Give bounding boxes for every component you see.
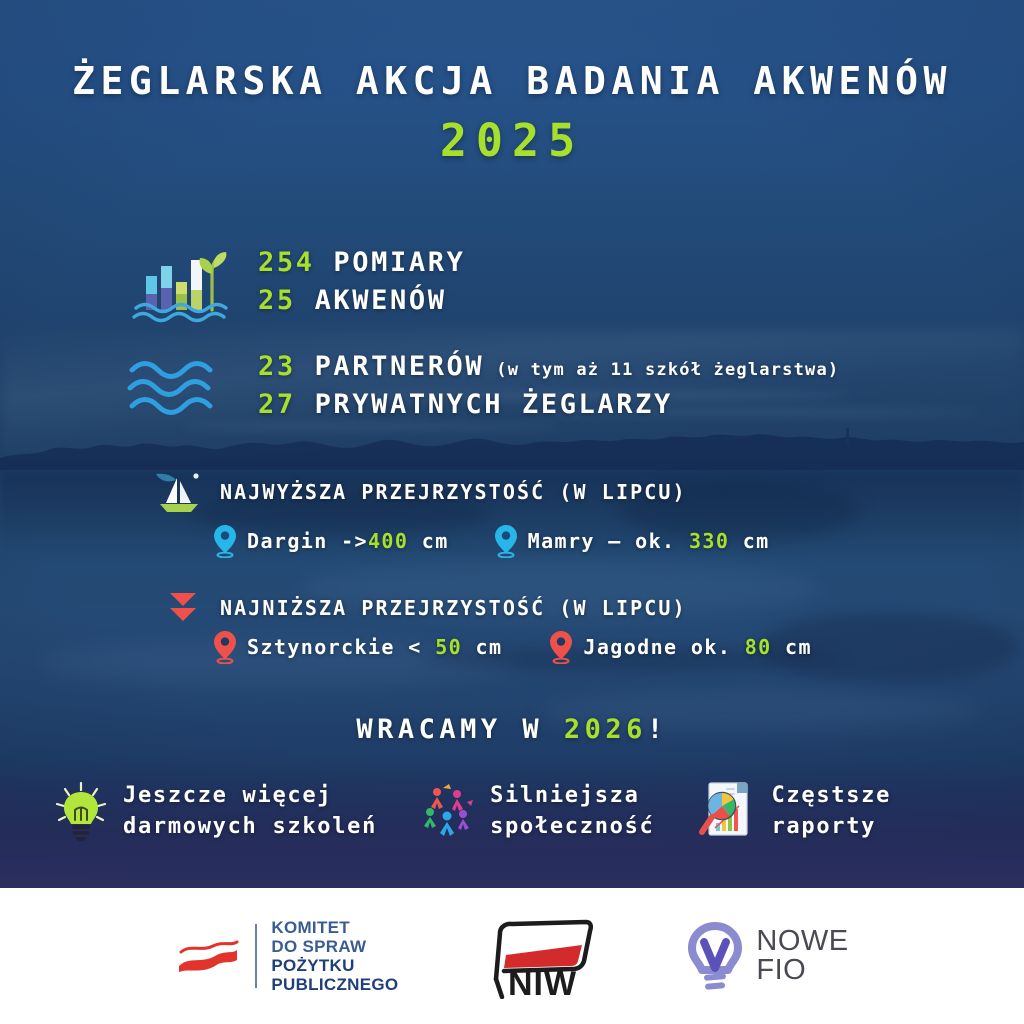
comeback-pre: WRACAMY W <box>356 714 564 745</box>
nowefio-line1: NOWE <box>756 927 848 956</box>
stat-label-partnerow: PARTNERÓW <box>296 351 485 382</box>
title-block: ŻEGLARSKA AKCJA BADANIA AKWENÓW 2025 <box>0 62 1024 167</box>
kdsp-line1: KOMITET <box>271 918 398 937</box>
map-pin-icon <box>212 524 238 558</box>
report-magnifier-svg <box>696 778 758 844</box>
page-title: ŻEGLARSKA AKCJA BADANIA AKWENÓW <box>0 62 1024 102</box>
waves-svg <box>126 352 236 420</box>
stat-number-254: 254 <box>258 247 315 278</box>
map-pin-icon <box>212 630 238 664</box>
value-jagodne-label: Jagodne ok. 80 cm <box>583 635 812 659</box>
mamry-unit: cm <box>729 529 769 553</box>
stat-paren-post: szkół żeglarstwa) <box>634 360 840 380</box>
stat-label-pomiary: POMIARY <box>315 247 466 278</box>
polish-flag-mark-icon <box>175 936 241 976</box>
stat-paren-pre: (w tym aż <box>496 360 610 380</box>
dargin-value: 400 <box>368 529 408 553</box>
stat-measurements: 254 POMIARY 25 AKWENÓW <box>132 238 465 326</box>
stat-partners: 23 PARTNERÓW(w tym aż 11 szkół żeglarstw… <box>126 348 839 425</box>
stat-partners-text: 23 PARTNERÓW(w tym aż 11 szkół żeglarstw… <box>258 348 839 425</box>
feature-reports-label: Częstsze raporty <box>771 780 891 842</box>
niw-text: NIW <box>508 965 577 999</box>
nowefio-text-block: NOWE FIO <box>756 927 848 985</box>
lightbulb-svg <box>52 780 110 842</box>
waves-icon <box>126 352 236 420</box>
highest-transparency-header: NAJWYŻSZA PRZEJRZYSTOŚĆ (W LIPCU) <box>152 470 687 514</box>
value-jagodne: Jagodne ok. 80 cm <box>548 630 812 664</box>
infographic-poster: ŻEGLARSKA AKCJA BADANIA AKWENÓW 2025 <box>0 0 1024 1024</box>
bar-chart-sprout-water-icon <box>132 238 236 326</box>
map-pin-icon <box>493 524 519 558</box>
jagodne-unit: cm <box>772 635 812 659</box>
value-mamry-label: Mamry – ok. 330 cm <box>528 529 770 553</box>
feature-community: Silniejsza społeczność <box>419 778 654 844</box>
value-sztynorckie-label: Sztynorckie < 50 cm <box>247 635 502 659</box>
stat-line-waterbodies: 25 AKWENÓW <box>258 282 465 320</box>
report-magnifier-icon <box>696 778 758 844</box>
highest-transparency-values: Dargin ->400 cm Mamry – ok. 330 cm <box>212 524 770 558</box>
sztynorckie-name: Sztynorckie < <box>247 635 435 659</box>
lowest-transparency-header: NAJNIŻSZA PRZEJRZYSTOŚĆ (W LIPCU) <box>164 588 687 628</box>
feature-community-line2: społeczność <box>490 811 654 842</box>
feature-reports-line1: Częstsze <box>771 780 891 811</box>
sztynorckie-unit: cm <box>462 635 502 659</box>
feature-reports: Częstsze raporty <box>696 778 891 844</box>
mamry-name: Mamry – ok. <box>528 529 689 553</box>
nowefio-line2: FIO <box>756 956 848 985</box>
nowe-fio-logo: NOWE FIO <box>684 920 848 992</box>
lowest-transparency-label: NAJNIŻSZA PRZEJRZYSTOŚĆ (W LIPCU) <box>220 596 687 620</box>
sailboat-icon <box>152 470 206 514</box>
polish-flag-banner-icon: NIW <box>482 913 600 999</box>
stat-line-private-sailors: 27 PRYWATNYCH ŻEGLARZY <box>258 386 839 424</box>
mamry-value: 330 <box>689 529 729 553</box>
sztynorckie-value: 50 <box>435 635 462 659</box>
stat-measurements-text: 254 POMIARY 25 AKWENÓW <box>258 244 465 321</box>
value-mamry: Mamry – ok. 330 cm <box>493 524 770 558</box>
feature-trainings: Jeszcze więcej darmowych szkoleń <box>52 778 377 844</box>
comeback-post: ! <box>647 714 668 745</box>
feature-trainings-label: Jeszcze więcej darmowych szkoleń <box>123 780 377 842</box>
value-dargin: Dargin ->400 cm <box>212 524 449 558</box>
feature-community-line1: Silniejsza <box>490 780 654 811</box>
feature-reports-line2: raporty <box>771 811 891 842</box>
map-pin-icon <box>548 630 574 664</box>
dargin-name: Dargin -> <box>247 529 368 553</box>
double-down-arrow-icon <box>164 588 206 628</box>
lightbulb-icon <box>52 780 110 842</box>
comeback-year: 2026 <box>564 714 647 745</box>
footer-logos: KOMITET DO SPRAW POŻYTKU PUBLICZNEGO NIW <box>0 888 1024 1024</box>
kdsp-text-block: KOMITET DO SPRAW POŻYTKU PUBLICZNEGO <box>271 918 398 994</box>
sailboat-svg <box>152 470 206 514</box>
kdsp-line3: POŻYTKU <box>271 956 398 975</box>
stat-label-prywatnych-zeglarzy: PRYWATNYCH ŻEGLARZY <box>296 389 673 420</box>
lightbulb-purple-icon <box>684 920 746 992</box>
content-layer: ŻEGLARSKA AKCJA BADANIA AKWENÓW 2025 <box>0 0 1024 1024</box>
stat-line-partners: 23 PARTNERÓW(w tym aż 11 szkół żeglarstw… <box>258 348 839 386</box>
value-sztynorckie: Sztynorckie < 50 cm <box>212 630 502 664</box>
stat-paren-number-11: 11 <box>611 360 634 380</box>
kdsp-line4: PUBLICZNEGO <box>271 975 398 994</box>
lowest-transparency-values: Sztynorckie < 50 cm Jagodne ok. 80 cm <box>212 630 812 664</box>
people-community-icon <box>419 780 477 842</box>
kdsp-line2: DO SPRAW <box>271 937 398 956</box>
dargin-unit: cm <box>408 529 448 553</box>
logo-divider <box>255 924 257 988</box>
stat-line-measurements: 254 POMIARY <box>258 244 465 282</box>
features-row: Jeszcze więcej darmowych szkoleń <box>0 778 1024 844</box>
feature-community-label: Silniejsza społeczność <box>490 780 654 842</box>
comeback-message: WRACAMY W 2026! <box>0 714 1024 745</box>
double-down-arrow-svg <box>164 588 206 628</box>
people-community-svg <box>419 780 477 842</box>
title-year: 2025 <box>0 114 1024 167</box>
jagodne-value: 80 <box>745 635 772 659</box>
jagodne-name: Jagodne ok. <box>583 635 744 659</box>
highest-transparency-label: NAJWYŻSZA PRZEJRZYSTOŚĆ (W LIPCU) <box>220 480 687 504</box>
stat-number-27: 27 <box>258 389 296 420</box>
stat-label-akwenow: AKWENÓW <box>296 285 447 316</box>
komitet-do-spraw-pozytku-publicznego-logo: KOMITET DO SPRAW POŻYTKU PUBLICZNEGO <box>175 918 398 994</box>
stat-number-23: 23 <box>258 351 296 382</box>
stat-number-25: 25 <box>258 285 296 316</box>
bar-chart-sprout-water-svg <box>132 238 236 326</box>
feature-trainings-line2: darmowych szkoleń <box>123 811 377 842</box>
value-dargin-label: Dargin ->400 cm <box>247 529 449 553</box>
niw-logo: NIW <box>482 913 600 999</box>
feature-trainings-line1: Jeszcze więcej <box>123 780 377 811</box>
